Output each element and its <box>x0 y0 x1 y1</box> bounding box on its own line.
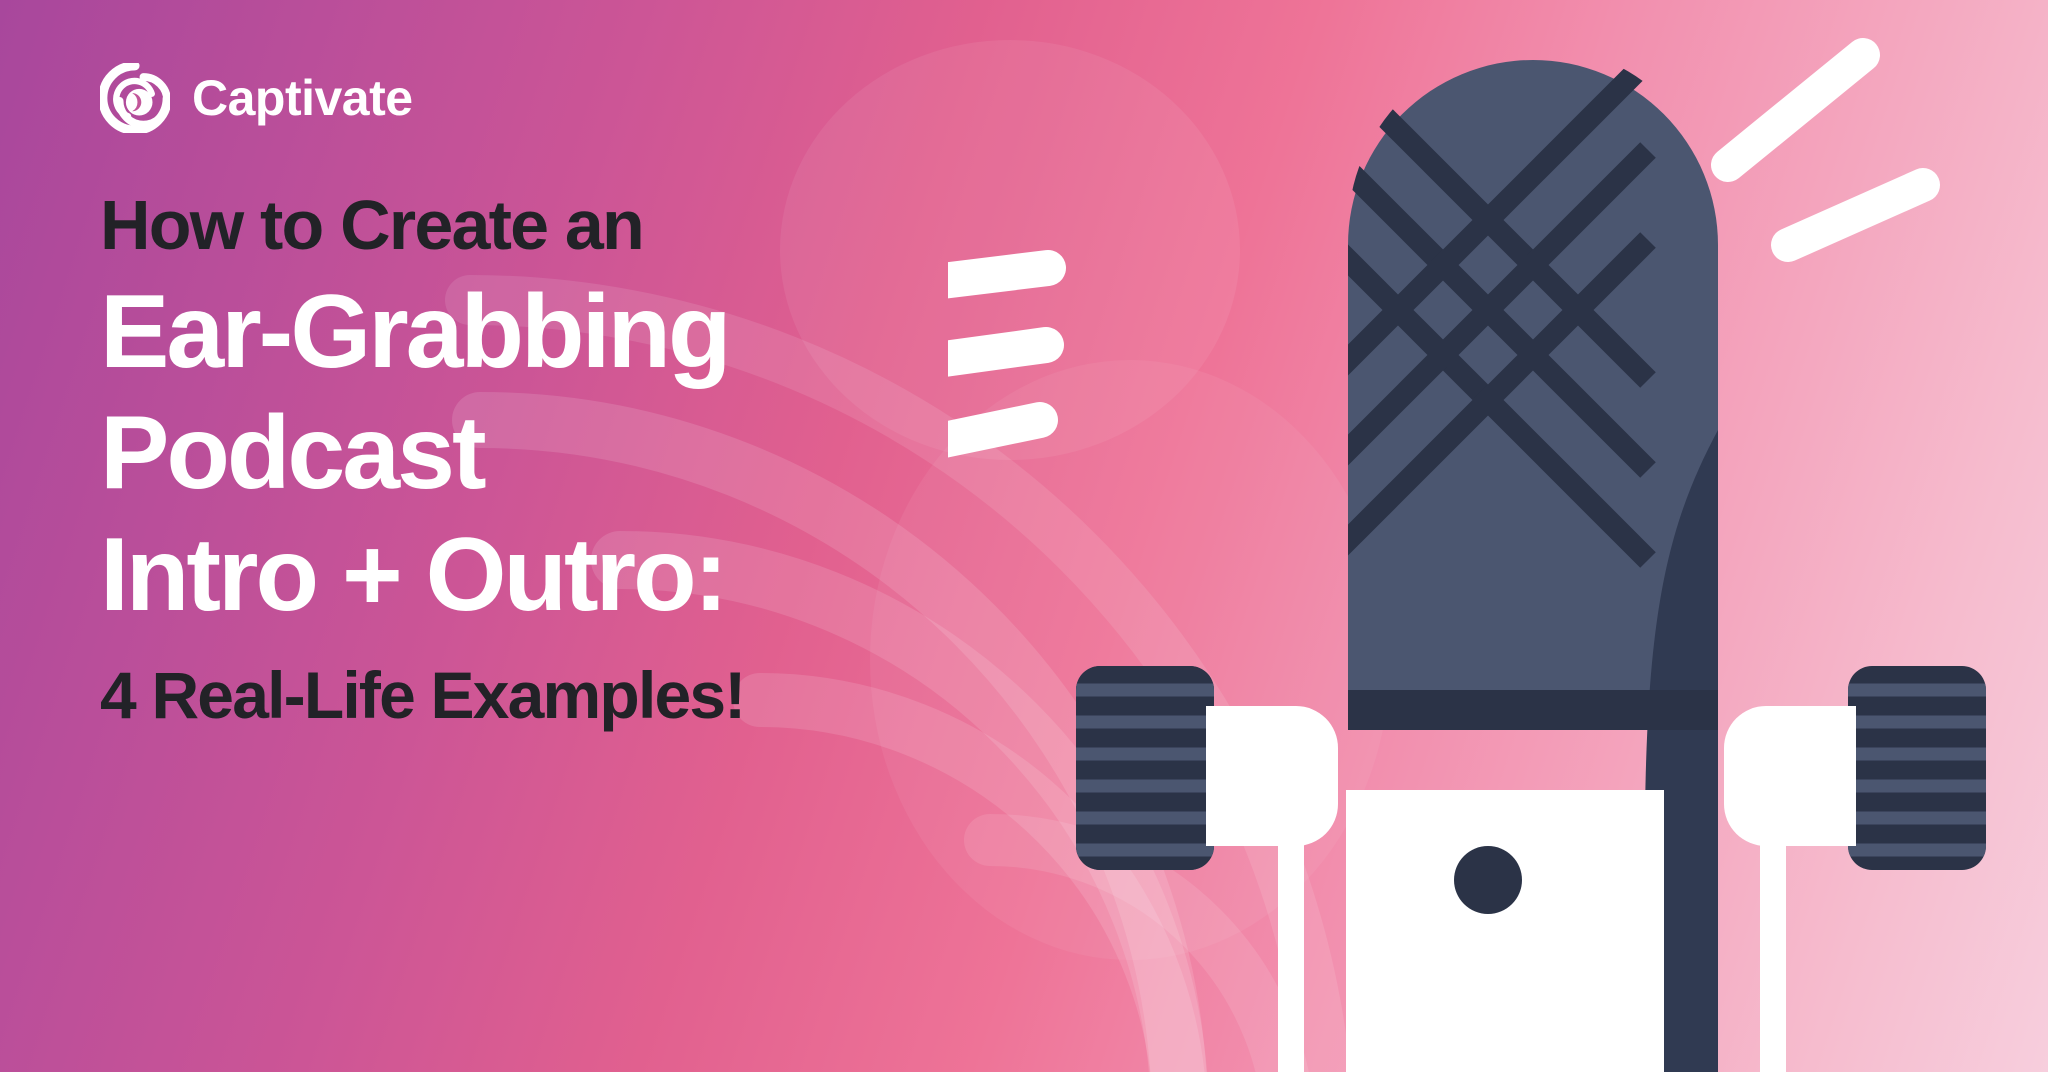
mic-body-panel <box>1346 790 1664 1072</box>
headline-main: Ear-Grabbing Podcast Intro + Outro: <box>100 272 980 637</box>
mic-body-shadow <box>1645 430 1738 1072</box>
mic-body-dot <box>1454 846 1522 914</box>
blog-banner: Captivate How to Create an Ear-Grabbing … <box>0 0 2048 1072</box>
mic-knob-right <box>1724 666 1986 870</box>
mic-head-dome <box>1348 60 1718 700</box>
mic-stand-post-right <box>1760 800 1786 1072</box>
captivate-logo[interactable]: Captivate <box>100 62 413 134</box>
headline-line-1: Ear-Grabbing <box>100 272 980 394</box>
captivate-wordmark: Captivate <box>192 73 413 123</box>
mic-knob-left <box>1076 666 1338 870</box>
mic-grille-crosshatch <box>1328 60 1648 560</box>
mic-stand-post-left <box>1278 800 1304 1072</box>
sound-lines-upper-right <box>1728 55 1923 245</box>
headline-block: How to Create an Ear-Grabbing Podcast In… <box>100 188 980 731</box>
podcast-microphone-illustration <box>948 0 2048 1072</box>
headline-kicker: How to Create an <box>100 188 980 264</box>
mic-neck-band <box>1348 690 1718 730</box>
headline-line-2: Podcast <box>100 393 980 515</box>
captivate-swirl-icon <box>100 63 170 133</box>
headline-subline: 4 Real-Life Examples! <box>100 659 980 732</box>
headline-line-3: Intro + Outro: <box>100 515 980 637</box>
